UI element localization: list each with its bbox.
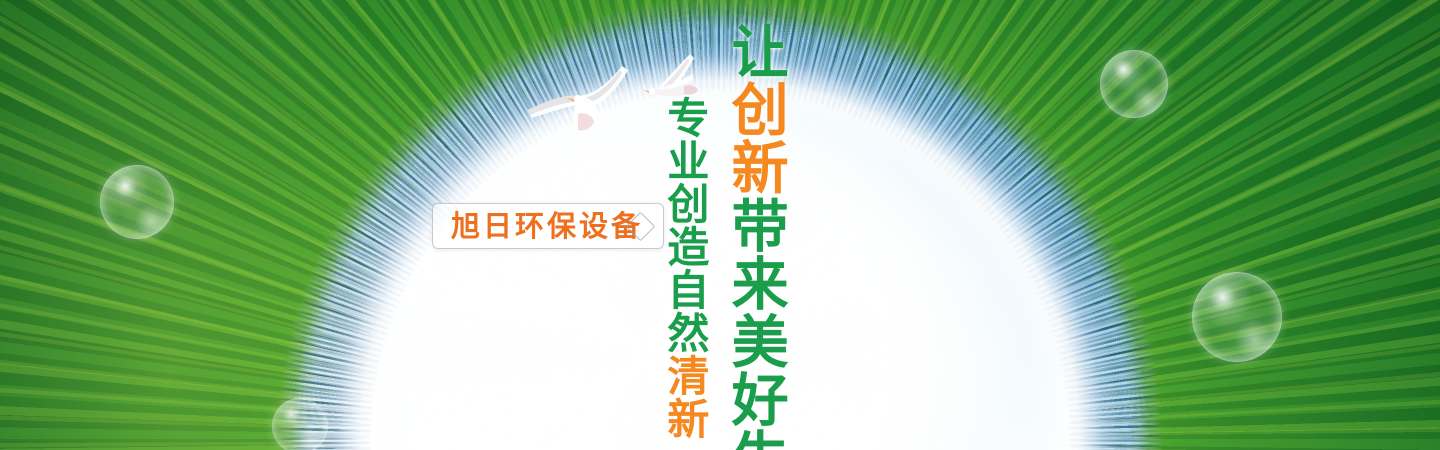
- bubble-top-right: [1100, 50, 1168, 118]
- bubble-bottom-right: [1192, 272, 1282, 362]
- bubble-left: [100, 165, 174, 239]
- brand-name-label: 旭日环保设备: [451, 212, 643, 241]
- brand-name-box: 旭日环保设备: [432, 203, 664, 249]
- slogan-sub-seg-1: 专业创造自然: [662, 96, 709, 354]
- slogan-main-seg-3: 带来美好生活: [723, 196, 787, 450]
- slogan-main-seg-2: 创新: [723, 80, 787, 196]
- seagull-large-icon: [518, 52, 648, 138]
- slogan-main: 让创新带来美好生活: [726, 22, 784, 450]
- slogan-sub-seg-2: 清新: [662, 354, 709, 440]
- slogan-main-seg-1: 让: [723, 22, 787, 80]
- slogan-sub: 专业创造自然清新: [663, 96, 706, 440]
- bubble-bottom-left: [272, 398, 328, 450]
- hero-banner: 让创新带来美好生活 专业创造自然清新 旭日环保设备: [0, 0, 1440, 450]
